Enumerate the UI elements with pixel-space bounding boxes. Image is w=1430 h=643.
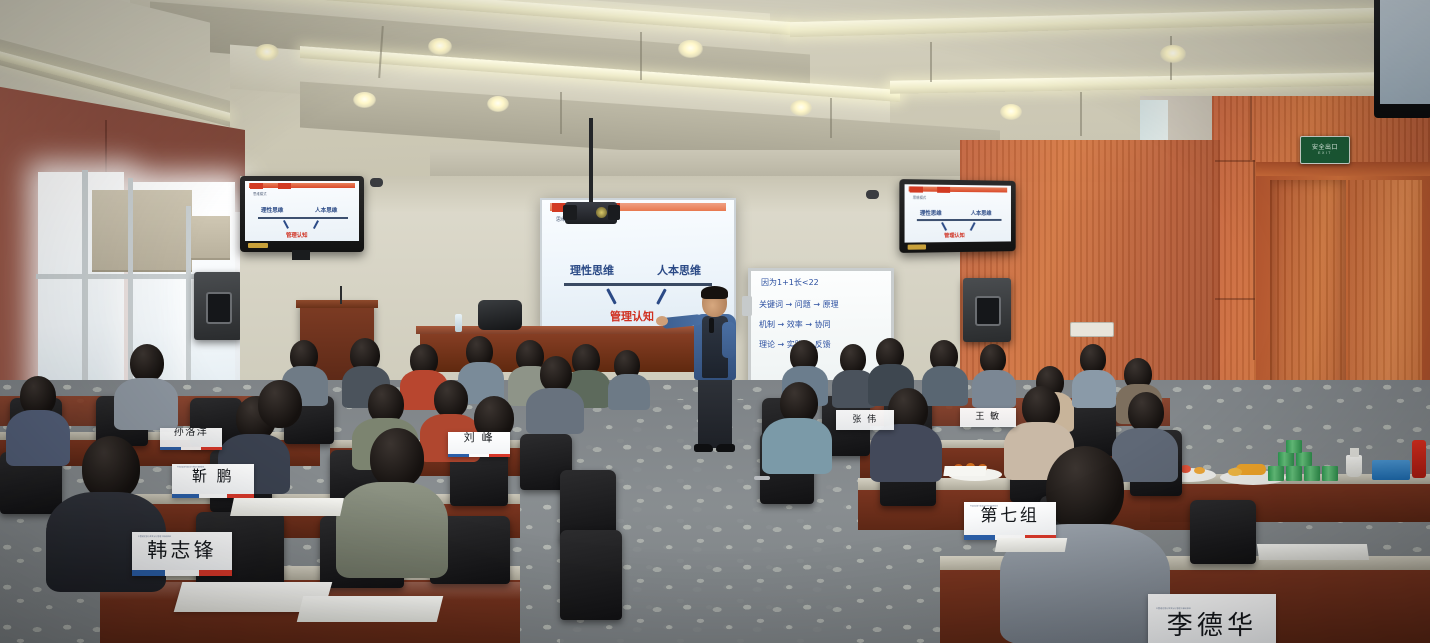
wood-seam-4 [1253,160,1255,360]
tv-left-tab-2 [278,183,291,189]
door-transom [1256,162,1430,176]
tv-right-divider [917,219,1002,221]
wall-speaker-left-cone [206,292,232,324]
tv-left-divider [258,217,348,219]
presenter-hair [701,286,728,299]
tv-right-label-bottom: 管理认知 [944,232,965,239]
placard-stripe [132,570,232,576]
projector-body-left [563,205,577,220]
microphone-icon [709,318,714,333]
chair-front-right-2 [1190,500,1256,564]
audience-body-m8 [870,424,942,482]
water-bottle-icon [455,314,462,332]
podium-top [296,300,378,308]
tv-left-screen: 思维模式 理性思维 人本思维 管理认知 [245,181,359,241]
tv-right-arrow-right [970,222,975,231]
audience-body-m10 [1112,428,1178,482]
fruit-piece-3 [1194,467,1205,474]
wood-seam-1 [1250,96,1252,160]
tv-left-label-left: 理性思维 [261,206,283,214]
paper-notebook-5 [1257,544,1369,560]
audience-head-m2 [130,344,164,382]
slide-arrow-right [656,288,666,304]
audience-head-f4 [258,380,302,428]
placard-wang-min: 王 敏 [960,408,1016,427]
presenter-hand-pointing [656,316,668,326]
whiteboard-line-2: 关键词 → 问题 → 原理 [759,299,839,310]
downlight-8 [1000,104,1022,120]
audience-body-b11 [922,366,968,406]
audience-body-b12 [972,370,1016,408]
chair-c3 [560,530,622,620]
whiteboard-line-3: 机制 → 效率 → 协同 [759,319,831,330]
downlight-4 [1160,45,1186,63]
straw-icon [1350,448,1359,457]
presenter-shoe-right [716,444,735,452]
audience-head-f1 [82,436,140,500]
ceiling-seam-2 [640,32,642,80]
tv-left-slide-title: 思维模式 [253,191,267,196]
slide-label-bottom: 管理认知 [610,308,654,324]
red-bottle-icon [1412,440,1426,478]
ceiling-seam-3 [930,42,932,82]
tv-left-label-bottom: 管理认知 [286,231,308,239]
presenter-shoe-left [694,444,713,452]
placard-jin-peng: 中国建设银行某某分行管理干部研修班 靳 鹏 [172,464,254,498]
beverage-can-4 [1268,466,1284,481]
wall-outlet-panel[interactable] [1070,322,1114,337]
tv-monitor-corner-screen [1380,0,1430,104]
presenter-trousers [698,376,732,448]
audience-body-m2 [114,378,178,430]
paper-notebook-4 [995,538,1067,552]
placard-sun-luoyang: 孙洛洋 [160,428,222,450]
paper-notebook-6 [943,466,986,476]
placard-name: 韩志锋 [147,540,217,560]
beverage-can-3 [1286,440,1302,453]
projector-body-right [608,205,620,220]
beverage-can-1 [1278,452,1294,466]
tv-right-screen: 思维模式 理性思维 人本思维 管理认知 [905,184,1011,242]
wall-speaker-right-cone [975,296,1001,326]
placard-name-7: 张 伟 [852,416,877,425]
placard-stripe-3 [448,454,510,457]
paper-notebook-2 [297,596,443,622]
ceiling-seam-6 [830,98,832,138]
tv-left-tab-1 [250,183,263,189]
placard-name-3: 刘 峰 [464,432,495,443]
placard-stripe-4 [160,447,222,450]
conference-room-photo: 安全出口 EXIT 思维模式 理性思维 人本思维 管理认知 思维模式 理性思维 [0,0,1430,643]
tv-right-arrow-left [941,222,947,231]
ceiling-seam-7 [1080,92,1082,136]
placard-header-text: 中国建设银行某某分行管理干部研修班 [138,534,171,537]
placard-zhang-wei: 张 伟 [836,410,894,430]
slide-label-left: 理性思维 [570,262,614,278]
audience-body-m7 [762,418,832,474]
whiteboard-tray [742,296,752,316]
tv-left-wall-mount [292,250,310,260]
tv-right-slide-title: 思维模式 [913,195,926,200]
audience-body-b14 [1072,370,1116,408]
slide-divider-line [564,283,712,286]
downlight-2 [428,38,452,55]
exit-sign: 安全出口 EXIT [1300,136,1350,164]
downlight-6 [487,96,509,112]
downlight-7 [790,100,812,116]
audience-head-f3 [1046,446,1124,532]
exit-sign-label-cn: 安全出口 [1312,145,1338,151]
placard-header-text-6: 中国建设银行某某分行管理干部研修班 [1156,606,1191,610]
tv-left-brand-badge [248,243,268,248]
window-roller-blind-2[interactable] [190,216,230,260]
tv-left-arrow-left [283,220,289,229]
downlight-5 [353,92,376,108]
audience-body-m1 [6,410,70,466]
placard-header-text-2: 中国建设银行某某分行管理干部研修班 [177,466,204,469]
audience-body-m6 [526,388,584,434]
slide-label-right: 人本思维 [657,262,701,278]
slide-arrow-left [606,288,616,304]
exit-sign-label-en: EXIT [1318,152,1332,156]
tv-left-header-bar [249,183,355,188]
whiteboard-line-1: 因为1+1长<22 [761,277,819,288]
audience-head-m10 [1128,392,1164,432]
beverage-can-2 [1296,452,1312,466]
tv-right-label-left: 理性思维 [920,209,942,217]
placard-group-7: 中国建设银行某某分行管理干部研修班 第七组 [964,502,1056,540]
placard-name-4: 孙洛洋 [174,428,209,438]
projector-mount-pole [589,118,593,206]
placard-name-2: 靳 鹏 [192,469,234,484]
tv-left-arrow-right [313,220,319,229]
tv-right-header-bar [909,186,1008,192]
beverage-can-7 [1322,466,1338,481]
fruit-piece-5 [1228,468,1242,476]
audience-body-b7 [608,374,650,410]
chair-arm-r5 [754,476,770,480]
tv-right-label-right: 人本思维 [971,209,992,217]
security-camera-icon-2 [866,190,879,199]
tv-left-label-right: 人本思维 [315,206,337,214]
audience-head-m6 [540,356,572,392]
tv-monitor-right: 思维模式 理性思维 人本思维 管理认知 [899,179,1015,253]
paper-cup [1346,455,1362,477]
window-roller-blind[interactable] [92,190,192,272]
placard-name-8: 王 敏 [975,413,1000,422]
audience-head-m5 [434,380,468,418]
tv-right-tab-1 [910,186,923,192]
beverage-can-5 [1286,466,1302,481]
podium-mic-stem [340,286,342,304]
tv-right-brand-badge [908,244,926,249]
tv-right-tab-2 [937,186,950,192]
projector-lens-icon [596,207,607,218]
placard-li-dehua: 中国建设银行某某分行管理干部研修班 李德华 [1148,594,1276,643]
placard-header-text-5: 中国建设银行某某分行管理干部研修班 [970,505,998,508]
placard-han-zhifeng: 中国建设银行某某分行管理干部研修班 韩志锋 [132,532,232,576]
placard-name-5: 第七组 [980,508,1039,525]
security-camera-icon [370,178,383,187]
downlight-1 [255,44,279,61]
wood-seam-2 [1215,160,1255,162]
placard-liu-feng: 刘 峰 [448,432,510,457]
wood-seam-3 [1215,298,1255,300]
head-table-chair [478,300,522,330]
ceiling-seam-5 [560,92,562,134]
audience-body-f2 [336,482,448,578]
downlight-3 [678,40,703,58]
placard-name-6: 李德华 [1167,613,1257,639]
tv-monitor-left: 思维模式 理性思维 人本思维 管理认知 [240,176,364,252]
audience-head-f2 [370,428,424,488]
tissue-box [1372,460,1410,480]
beverage-can-6 [1304,466,1320,481]
presenter-arm-mic [722,322,735,358]
paper-notebook-3 [230,498,344,516]
